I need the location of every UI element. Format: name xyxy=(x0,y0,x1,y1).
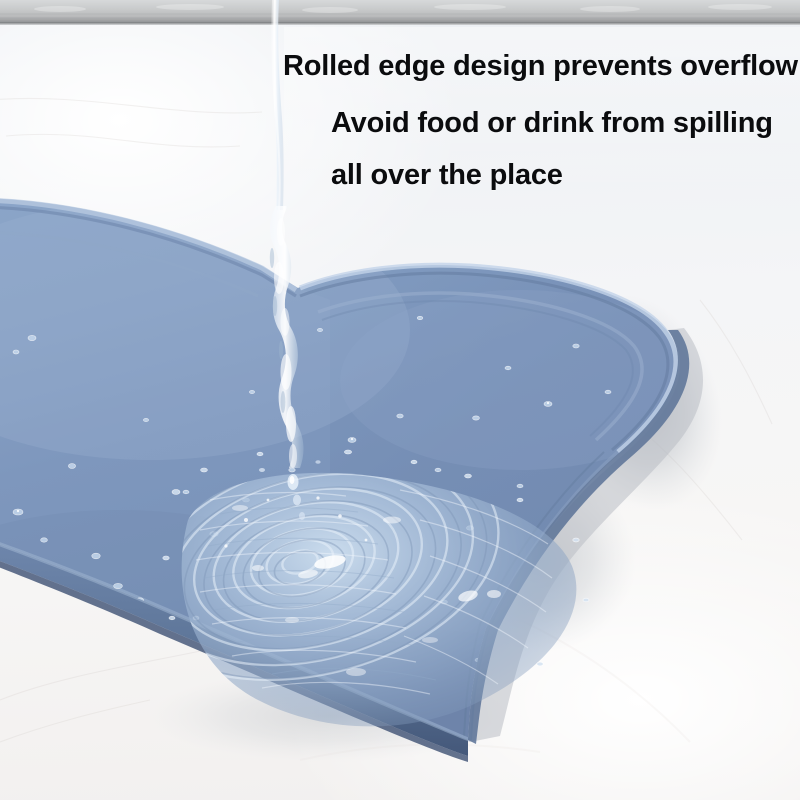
falling-water-stream xyxy=(0,0,800,800)
stream-droplets xyxy=(259,460,321,520)
product-photo-scene: Rolled edge design prevents overflow Avo… xyxy=(0,0,800,800)
stream-upper xyxy=(271,0,283,210)
stream-bulge xyxy=(270,206,304,468)
